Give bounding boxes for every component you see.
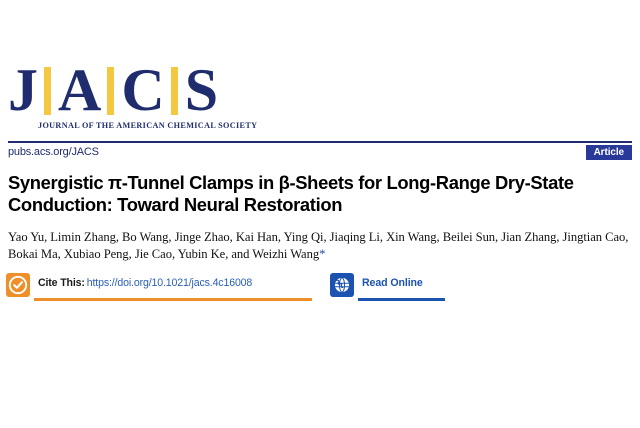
journal-masthead: J A C S JOURNAL OF THE AMERICAN CHEMICAL… [8,62,240,130]
globe-icon [330,273,354,297]
author-list: Yao Yu, Limin Zhang, Bo Wang, Jinge Zhao… [8,229,634,262]
running-head: pubs.acs.org/JACS Article [8,145,632,161]
journal-subtitle: JOURNAL OF THE AMERICAN CHEMICAL SOCIETY [38,121,240,130]
check-circle-icon [6,273,30,297]
article-action-bar: Cite This:https://doi.org/10.1021/jacs.4… [6,271,634,305]
logo-divider-bar [44,67,51,115]
cite-underline [34,298,312,301]
logo-letter-j: J [8,63,37,118]
article-type-badge: Article [586,145,632,160]
logo-divider-bar [107,67,114,115]
read-online-block[interactable]: Read Online [330,271,445,301]
logo-letter-a: A [58,63,100,118]
read-online-label: Read Online [362,277,423,289]
jacs-logo: J A C S [8,62,240,118]
doi-link[interactable]: https://doi.org/10.1021/jacs.4c16008 [87,277,252,289]
logo-letter-s: S [185,63,217,118]
cite-this-block[interactable]: Cite This:https://doi.org/10.1021/jacs.4… [6,271,312,301]
cite-this-text: Cite This:https://doi.org/10.1021/jacs.4… [38,277,252,289]
header-divider [8,141,632,143]
logo-divider-bar [171,67,178,115]
corresponding-author-marker: * [319,247,325,261]
journal-url[interactable]: pubs.acs.org/JACS [8,146,99,158]
cite-this-label: Cite This: [38,277,85,289]
read-online-underline [358,298,445,301]
page-title: Synergistic π-Tunnel Clamps in β-Sheets … [8,172,634,217]
article-first-page: J A C S JOURNAL OF THE AMERICAN CHEMICAL… [0,0,640,428]
logo-letter-c: C [121,63,163,118]
